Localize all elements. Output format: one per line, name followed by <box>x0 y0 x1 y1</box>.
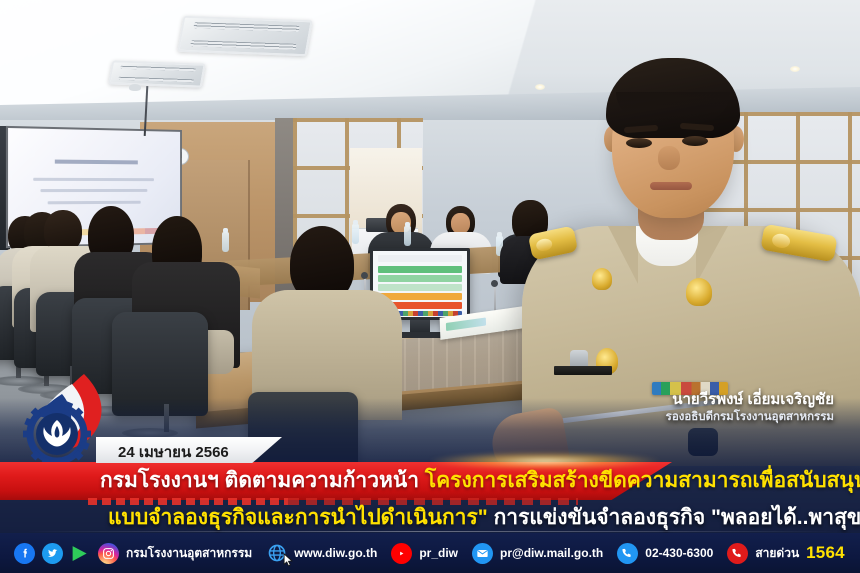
poster-root: นายวีรพงษ์ เอี่ยมเจริญชัย รองอธิบดีกรมโร… <box>0 0 860 573</box>
speaker-caption: นายวีรพงษ์ เอี่ยมเจริญชัย รองอธิบดีกรมโร… <box>666 390 834 425</box>
mouse-cursor-icon <box>283 553 294 567</box>
collar-insignia-left <box>592 268 612 290</box>
nose <box>658 146 680 170</box>
email-label[interactable]: pr@diw.mail.go.th <box>500 546 603 560</box>
ceiling-speaker <box>129 84 141 91</box>
ac-vent <box>108 60 206 87</box>
social-handle-label: กรมโรงงานอุตสาหกรรม <box>126 544 252 563</box>
uniform-collar-left <box>608 226 638 284</box>
headline-line1-yellow: โครงการเสริมสร้างขีดความสามารถเพื่อสนับส… <box>425 469 860 492</box>
monitor-base <box>396 332 444 338</box>
mail-icon[interactable] <box>472 543 493 564</box>
twitter-icon[interactable] <box>42 543 63 564</box>
hotline-label: สายด่วน <box>755 544 799 563</box>
line-icon[interactable] <box>70 543 91 564</box>
eye-left <box>626 138 652 148</box>
date-badge-text: 24 เมษายน 2566 <box>96 437 282 464</box>
contact-bar: กรมโรงงานอุตสาหกรรม www.diw.go.th pr_diw <box>0 533 860 573</box>
water-bottle <box>222 232 229 252</box>
instagram-icon[interactable] <box>98 543 119 564</box>
uniform-nameplate <box>554 366 612 375</box>
youtube-label[interactable]: pr_diw <box>419 546 458 560</box>
youtube-icon[interactable] <box>391 543 412 564</box>
officer-portrait <box>500 30 860 450</box>
collar-insignia-right <box>686 278 712 306</box>
speaker-title: รองอธิบดีกรมโรงงานอุตสาหกรรม <box>666 409 834 425</box>
headline-line1-white: กรมโรงงานฯ ติดตามความก้าวหน้า <box>100 469 419 492</box>
website-label[interactable]: www.diw.go.th <box>294 546 377 560</box>
date-badge: 24 เมษายน 2566 <box>96 437 282 463</box>
phone-label[interactable]: 02-430-6300 <box>645 546 713 560</box>
headline-line-1: กรมโรงงานฯ ติดตามความก้าวหน้า โครงการเสร… <box>100 466 860 496</box>
phone-icon[interactable] <box>617 543 638 564</box>
hotline-phone-icon[interactable] <box>727 543 748 564</box>
microphone-head <box>491 280 498 287</box>
microphone-head <box>361 272 368 279</box>
ac-vent <box>177 16 313 57</box>
speaker-name: นายวีรพงษ์ เอี่ยมเจริญชัย <box>666 390 834 409</box>
headline-line2-yellow: แบบจำลองธุรกิจและการนำไปดำเนินการ" <box>108 506 488 529</box>
facebook-icon[interactable] <box>14 543 35 564</box>
uniform-collar-right <box>696 226 728 284</box>
headline-line-2: แบบจำลองธุรกิจและการนำไปดำเนินการ" การแข… <box>108 503 860 533</box>
hotline-number: 1564 <box>806 543 845 563</box>
water-bottle <box>404 226 411 246</box>
headline-line2-white: การแข่งขันจำลองธุรกิจ "พลอยได้..พาสุข" <box>494 506 860 529</box>
mouth <box>650 182 692 190</box>
water-bottle <box>352 224 359 244</box>
eye-right <box>682 136 708 146</box>
